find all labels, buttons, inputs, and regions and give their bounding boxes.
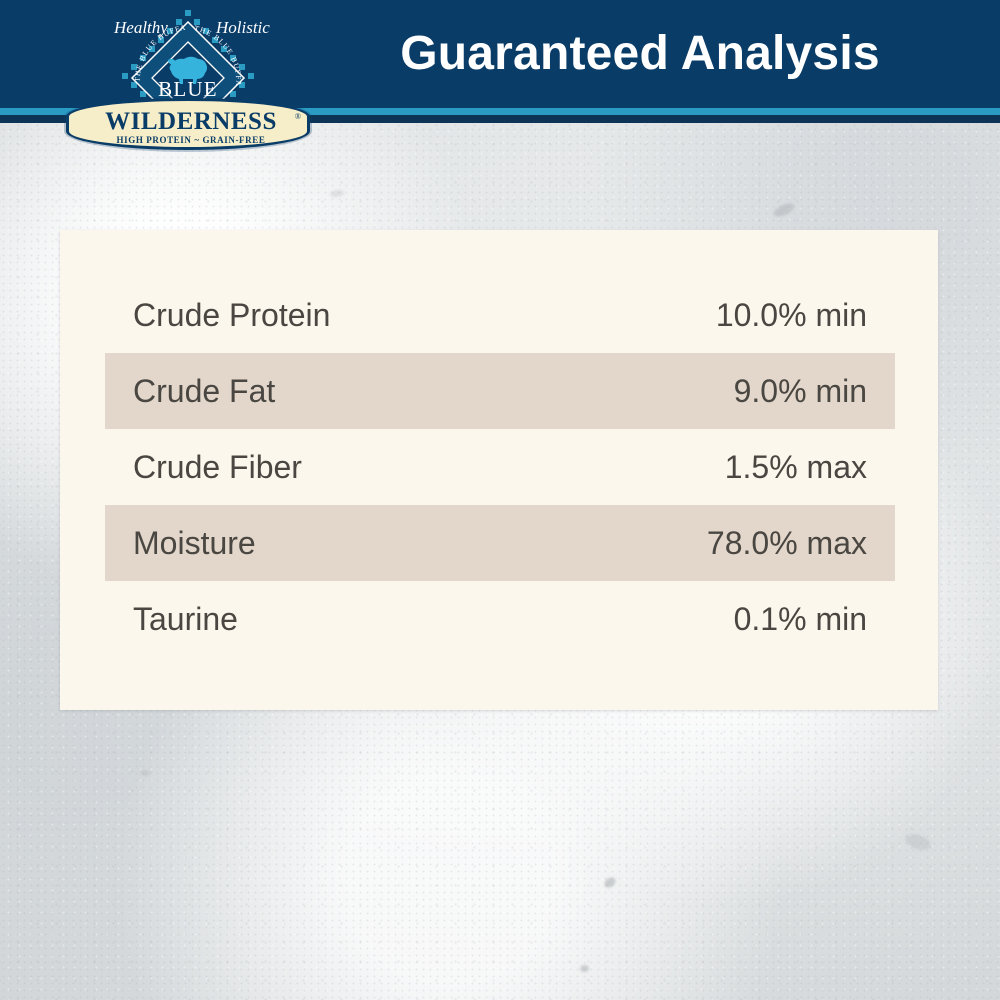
- texture-speck: [139, 769, 150, 777]
- page-title: Guaranteed Analysis: [330, 26, 950, 81]
- texture-speck: [329, 189, 344, 198]
- product-info-graphic: Guaranteed Analysis Healthy Holistic: [0, 0, 1000, 1000]
- nutrient-value: 0.1% min: [734, 601, 867, 638]
- texture-speck: [772, 201, 796, 219]
- texture-speck: [603, 875, 618, 889]
- nutrient-value: 9.0% min: [734, 373, 867, 410]
- nutrient-label: Taurine: [133, 601, 238, 638]
- nutrient-value: 1.5% max: [725, 449, 867, 486]
- analysis-table: Crude Protein10.0% minCrude Fat9.0% minC…: [105, 277, 895, 657]
- table-row: Crude Fat9.0% min: [105, 353, 895, 429]
- nutrient-value: 10.0% min: [716, 297, 867, 334]
- nutrient-label: Moisture: [133, 525, 256, 562]
- nutrient-value: 78.0% max: [707, 525, 867, 562]
- blue-wilderness-logo: Healthy Holistic: [68, 2, 308, 152]
- wilderness-banner: WILDERNESS ® HIGH PROTEIN ~ GRAIN-FREE: [66, 98, 310, 150]
- wilderness-wordmark: WILDERNESS: [69, 108, 313, 136]
- nutrient-label: Crude Protein: [133, 297, 330, 334]
- texture-speck: [903, 831, 932, 852]
- nutrient-label: Crude Fat: [133, 373, 275, 410]
- table-row: Crude Fiber1.5% max: [105, 429, 895, 505]
- wilderness-tagline: HIGH PROTEIN ~ GRAIN-FREE: [69, 135, 313, 145]
- table-row: Crude Protein10.0% min: [105, 277, 895, 353]
- registered-mark: ®: [295, 112, 301, 121]
- nutrient-label: Crude Fiber: [133, 449, 302, 486]
- table-row: Taurine0.1% min: [105, 581, 895, 657]
- guaranteed-analysis-panel: Crude Protein10.0% minCrude Fat9.0% minC…: [60, 230, 938, 710]
- texture-speck: [580, 965, 589, 972]
- table-row: Moisture78.0% max: [105, 505, 895, 581]
